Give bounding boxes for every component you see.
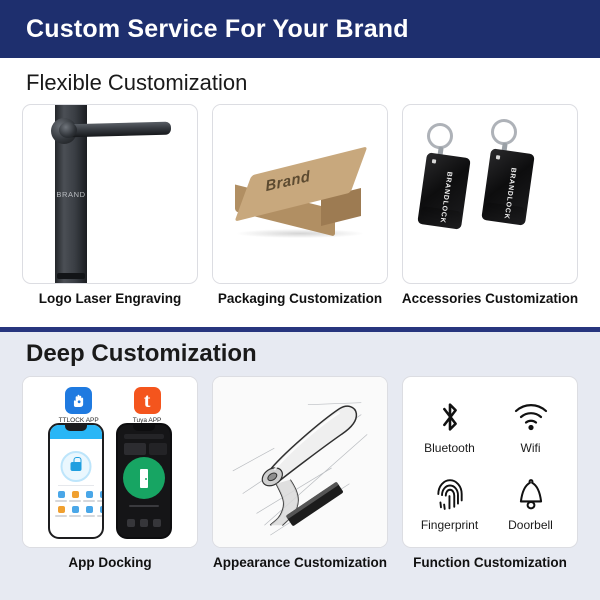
bluetooth-icon — [435, 397, 465, 437]
grid-cell — [97, 491, 104, 502]
app-tuya[interactable]: t Tuya APP — [133, 387, 162, 424]
phone-unlock-button — [123, 457, 165, 499]
tab-item — [140, 519, 148, 527]
phone-status-bar — [124, 434, 164, 439]
tuya-letter: t — [144, 391, 151, 411]
phone-tab-bar — [124, 519, 164, 527]
cardboard-box-illustration: Brand — [213, 105, 387, 283]
grid-cell — [69, 491, 81, 502]
card-row-flexible: BRAND Logo Laser Engraving Brand Packa — [0, 104, 600, 306]
handle-panel-base — [57, 273, 85, 279]
feature-label: Doorbell — [508, 518, 553, 532]
fingerprint-icon — [434, 474, 466, 514]
tab-item — [127, 519, 135, 527]
card-caption: Accessories Customization — [402, 291, 578, 306]
feature-doorbell[interactable]: Doorbell — [490, 464, 571, 541]
feature-fingerprint[interactable]: Fingerprint — [409, 464, 490, 541]
tuya-t-icon: t — [134, 387, 161, 414]
card-image-door-handle: BRAND — [22, 104, 198, 284]
card-caption: Logo Laser Engraving — [39, 291, 182, 306]
page-header: Custom Service For Your Brand — [0, 0, 600, 58]
phone-notch — [133, 425, 155, 431]
page-title: Custom Service For Your Brand — [26, 15, 409, 44]
phone-feature-grid — [55, 491, 97, 517]
app-ttlock[interactable]: TTLOCK APP — [59, 387, 99, 424]
phone-notch — [65, 425, 87, 431]
card-image-app-docking: TTLOCK APP t Tuya APP — [22, 376, 198, 548]
card-image-function-icons: Bluetooth — [402, 376, 578, 548]
card-accessories-customization[interactable]: BRANDLOCK BRANDLOCK Accessories Customiz… — [402, 104, 578, 306]
card-image-design-sketch — [212, 376, 388, 548]
hand-lock-icon — [65, 387, 92, 414]
app-docking-illustration: TTLOCK APP t Tuya APP — [23, 377, 197, 547]
keyfob-body-left: BRANDLOCK — [417, 152, 471, 229]
grid-cell — [83, 506, 95, 517]
promo-page: Custom Service For Your Brand Flexible C… — [0, 0, 600, 600]
engraved-brand-text: BRAND — [56, 190, 86, 199]
keyfob-body-right: BRANDLOCK — [481, 148, 535, 225]
lock-icon — [71, 462, 82, 471]
handle-lever — [63, 122, 171, 138]
door-handle-illustration: BRAND — [23, 105, 197, 283]
grid-cell — [83, 491, 95, 502]
phone-mockup-tuya — [116, 423, 172, 539]
feature-label: Wifi — [521, 441, 541, 455]
grid-cell — [97, 506, 104, 517]
keyring-right — [491, 119, 517, 145]
grid-cell — [55, 506, 67, 517]
card-caption: Packaging Customization — [218, 291, 382, 306]
keyring-left — [427, 123, 453, 149]
phone-lock-button — [61, 451, 92, 482]
handle-lever-knob — [59, 122, 77, 138]
phone-camera-tile-2 — [149, 443, 167, 455]
card-caption: Function Customization — [413, 555, 567, 570]
handle-sketch-illustration — [213, 377, 387, 547]
grid-cell — [55, 491, 67, 502]
card-caption: App Docking — [68, 555, 151, 570]
card-function-customization[interactable]: Bluetooth — [402, 376, 578, 570]
phone-separator — [58, 485, 94, 486]
doorbell-icon — [516, 474, 546, 514]
app-badge-row: TTLOCK APP t Tuya APP — [23, 387, 197, 424]
keyfob-illustration: BRANDLOCK BRANDLOCK — [403, 105, 577, 283]
card-appearance-customization[interactable]: Appearance Customization — [212, 376, 388, 570]
wifi-icon — [513, 397, 549, 437]
card-packaging-customization[interactable]: Brand Packaging Customization — [212, 104, 388, 306]
feature-label: Fingerprint — [421, 518, 478, 532]
phone-camera-tile — [124, 443, 146, 455]
feature-icon-grid: Bluetooth — [403, 377, 577, 547]
phone-mockup-ttlock — [48, 423, 104, 539]
phone-caption-line — [129, 505, 159, 507]
box-shadow — [237, 229, 363, 238]
grid-cell — [69, 506, 81, 517]
card-app-docking[interactable]: TTLOCK APP t Tuya APP — [22, 376, 198, 570]
phone-mockup-row — [23, 423, 197, 539]
card-row-deep: TTLOCK APP t Tuya APP — [0, 376, 600, 570]
feature-label: Bluetooth — [424, 441, 475, 455]
card-image-keyfobs: BRANDLOCK BRANDLOCK — [402, 104, 578, 284]
section-title-deep: Deep Customization — [0, 340, 600, 368]
tab-item — [153, 519, 161, 527]
keyfob-hole-left — [432, 159, 437, 164]
section-title-flexible: Flexible Customization — [0, 70, 600, 96]
card-image-cardboard-box: Brand — [212, 104, 388, 284]
feature-bluetooth[interactable]: Bluetooth — [409, 387, 490, 464]
card-logo-laser-engraving[interactable]: BRAND Logo Laser Engraving — [22, 104, 198, 306]
feature-wifi[interactable]: Wifi — [490, 387, 571, 464]
section-flexible-customization: Flexible Customization BRAND Logo Laser … — [0, 58, 600, 327]
card-caption: Appearance Customization — [213, 555, 387, 570]
section-deep-customization: Deep Customization — [0, 332, 600, 600]
keyfob-hole-right — [496, 155, 501, 160]
door-icon — [140, 469, 148, 488]
